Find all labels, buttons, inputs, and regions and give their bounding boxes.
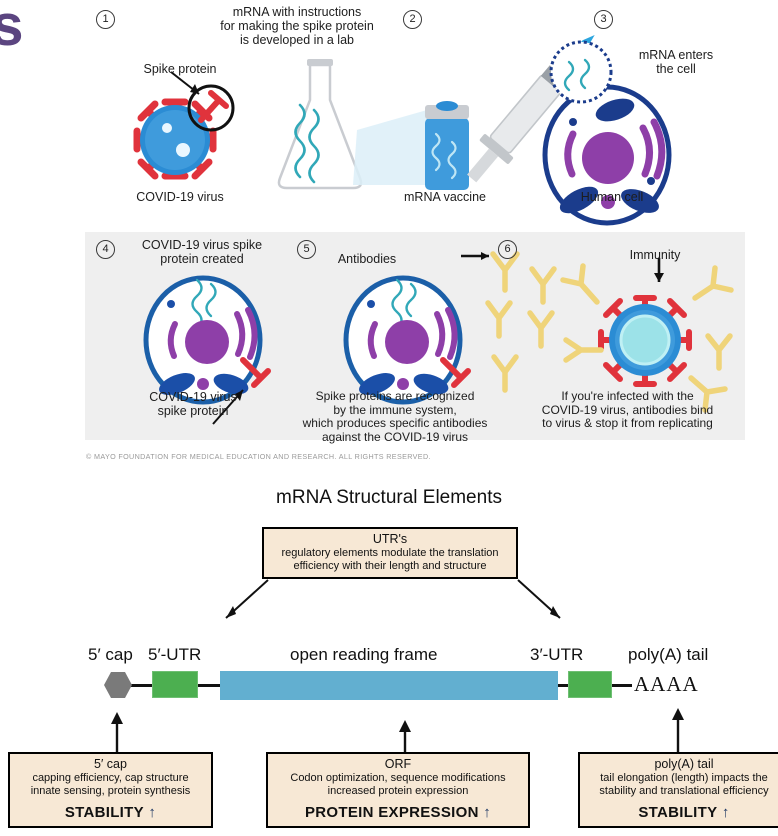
immunity-annotation: Immunity: [610, 248, 700, 262]
polya-sequence-text: AAAA: [634, 672, 699, 697]
step-number-6: 6: [498, 240, 517, 259]
connector-utr3-polya: [610, 684, 632, 687]
step-number-1: 1: [96, 10, 115, 29]
detail-box-orf-title: ORF: [268, 757, 528, 772]
step-5-label: Spike proteins are recognized by the imm…: [290, 390, 500, 444]
mrna-enters-cell-annotation: mRNA enters the cell: [620, 48, 732, 76]
utr-box-line-2: efficiency with their length and structu…: [264, 560, 516, 573]
step-2-heading: mRNA with instructions for making the sp…: [197, 5, 397, 47]
detail-box-5cap-title: 5′ cap: [10, 757, 211, 772]
detail-box-5cap: 5′ cap capping efficiency, cap structure…: [8, 752, 213, 828]
step-4-heading: COVID-19 virus spike protein created: [122, 238, 282, 266]
detail-box-polya: poly(A) tail tail elongation (length) im…: [578, 752, 778, 828]
step-2-label: mRNA vaccine: [375, 190, 515, 204]
utr-arrows: [160, 578, 640, 633]
segment-label-polya: poly(A) tail: [628, 645, 708, 665]
detail-box-orf-summary: PROTEIN EXPRESSION: [305, 804, 479, 821]
utr-box-line-1: regulatory elements modulate the transla…: [264, 547, 516, 560]
utr3-box-shape: [568, 671, 612, 698]
up-arrow-icon: ↑: [722, 804, 730, 821]
detail-box-polya-summary: STABILITY: [638, 804, 717, 821]
virus-bound-antibodies-icon: [563, 258, 731, 410]
diagram-title: mRNA Structural Elements: [0, 487, 778, 509]
detail-box-arrows: [0, 700, 778, 755]
spike-protein-annotation: Spike protein: [125, 62, 235, 76]
step-number-3: 3: [594, 10, 613, 29]
cell-and-antibodies-icon: [346, 252, 554, 402]
detail-box-5cap-line-2: innate sensing, protein synthesis: [10, 785, 211, 798]
slide-canvas: es: [0, 0, 778, 836]
copyright-notice: © MAYO FOUNDATION FOR MEDICAL EDUCATION …: [86, 452, 431, 461]
step-3-label: Human cell: [552, 190, 672, 204]
segment-label-orf: open reading frame: [290, 645, 437, 665]
detail-box-5cap-line-1: capping efficiency, cap structure: [10, 772, 211, 785]
step-4-label: COVID-19 virus spike protein: [118, 390, 268, 418]
segment-label-3utr: 3′-UTR: [530, 645, 583, 665]
detail-box-polya-line-2: stability and translational efficiency: [580, 785, 778, 798]
utr5-box-shape: [152, 671, 198, 698]
step-number-4: 4: [96, 240, 115, 259]
segment-label-5cap: 5′ cap: [88, 645, 133, 665]
page-title: es: [0, 0, 23, 59]
up-arrow-icon: ↑: [148, 804, 156, 821]
utr-box-title: UTR's: [264, 532, 516, 547]
step-6-label: If you're infected with the COVID-19 vir…: [520, 390, 735, 431]
utr-info-box: UTR's regulatory elements modulate the t…: [262, 527, 518, 579]
step-number-2: 2: [403, 10, 422, 29]
detail-box-orf-line-2: increased protein expression: [268, 785, 528, 798]
detail-box-polya-line-1: tail elongation (length) impacts the: [580, 772, 778, 785]
up-arrow-icon: ↑: [483, 804, 491, 821]
detail-box-orf: ORF Codon optimization, sequence modific…: [266, 752, 530, 828]
cap-hexagon-shape: [104, 672, 132, 698]
antibodies-annotation: Antibodies: [327, 252, 407, 266]
detail-box-5cap-summary: STABILITY: [65, 804, 144, 821]
detail-box-polya-title: poly(A) tail: [580, 757, 778, 772]
coronavirus-icon: [137, 72, 233, 176]
orf-box-shape: [220, 671, 558, 700]
step-number-5: 5: [297, 240, 316, 259]
step-1-label: COVID-19 virus: [115, 190, 245, 204]
connector-utr-orf: [196, 684, 222, 687]
segment-label-5utr: 5′-UTR: [148, 645, 201, 665]
detail-box-orf-line-1: Codon optimization, sequence modificatio…: [268, 772, 528, 785]
